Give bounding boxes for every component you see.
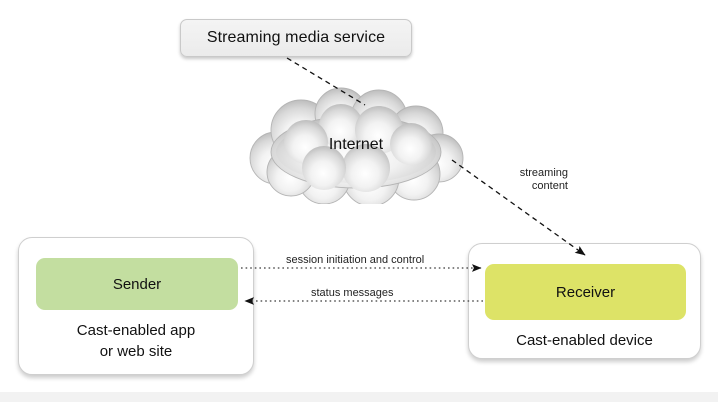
session-connector-label: session initiation and control bbox=[286, 254, 424, 266]
internet-cloud-node: Internet bbox=[246, 86, 466, 204]
sender-box-label: Sender bbox=[113, 276, 161, 293]
streaming-content-line1: streaming bbox=[496, 167, 568, 180]
status-connector-label: status messages bbox=[311, 287, 394, 299]
receiver-card: Receiver Cast-enabled device bbox=[468, 243, 701, 359]
receiver-box-label: Receiver bbox=[556, 284, 615, 301]
streaming-content-line2: content bbox=[496, 180, 568, 193]
sender-caption-line2: or web site bbox=[19, 341, 253, 362]
sender-box: Sender bbox=[36, 258, 238, 310]
sender-card: Sender Cast-enabled app or web site bbox=[18, 237, 254, 375]
diagram-canvas: Streaming media service bbox=[0, 0, 718, 402]
canvas-bottom-strip bbox=[0, 392, 718, 402]
sender-caption: Cast-enabled app or web site bbox=[19, 320, 253, 362]
receiver-caption: Cast-enabled device bbox=[469, 330, 700, 351]
cloud-shape-icon bbox=[246, 86, 466, 204]
streaming-media-service-label: Streaming media service bbox=[207, 29, 385, 47]
receiver-caption-line1: Cast-enabled device bbox=[469, 330, 700, 351]
sender-caption-line1: Cast-enabled app bbox=[19, 320, 253, 341]
receiver-box: Receiver bbox=[485, 264, 686, 320]
streaming-media-service-node: Streaming media service bbox=[180, 19, 412, 57]
streaming-content-label: streaming content bbox=[496, 167, 568, 193]
